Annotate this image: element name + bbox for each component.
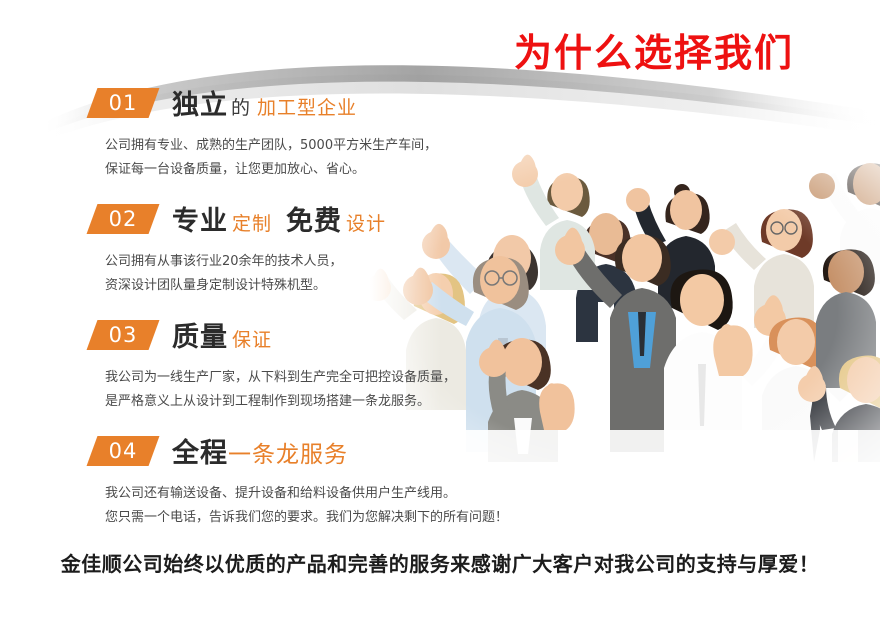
feature-title: 全程一条龙服务 (172, 440, 348, 467)
feature-title-primary: 专业 (172, 206, 228, 237)
feature-description-line: 我公司为一线生产厂家，从下料到生产完全可把控设备质量， (105, 366, 520, 390)
feature-title-primary: 质量 (172, 322, 228, 353)
number-badge-label: 03 (92, 320, 154, 350)
feature-description-line: 我公司还有输送设备、提升设备和给料设备供用户生产线用。 (105, 482, 520, 506)
feature-title-connector: 的 (228, 97, 253, 119)
number-badge-label: 01 (92, 88, 154, 118)
feature-description-line: 是严格意义上从设计到工程制作到现场搭建一条龙服务。 (105, 390, 520, 414)
number-badge-label: 04 (92, 436, 154, 466)
feature-title-accent: 保证 (228, 329, 272, 351)
feature-description-line: 公司拥有从事该行业20余年的技术人员， (105, 250, 520, 274)
feature-heading: 03 质量保证 (0, 320, 520, 354)
feature-title-primary-2: 免费 (286, 206, 342, 237)
feature-title: 质量保证 (172, 324, 272, 351)
feature-description: 我公司还有输送设备、提升设备和给料设备供用户生产线用。 您只需一个电话，告诉我们… (0, 482, 520, 530)
feature-title: 专业定制免费设计 (172, 208, 386, 235)
number-badge-label: 02 (92, 204, 154, 234)
footer-slogan: 金佳顺公司始终以优质的产品和完善的服务来感谢广大客户对我公司的支持与厚爱！ (0, 548, 880, 577)
feature-title-accent: 一条龙服务 (228, 442, 348, 468)
feature-description-line: 公司拥有专业、成熟的生产团队，5000平方米生产车间， (105, 134, 520, 158)
feature-description: 公司拥有从事该行业20余年的技术人员， 资深设计团队量身定制设计特殊机型。 (0, 250, 520, 298)
feature-description-line: 保证每一台设备质量，让您更加放心、省心。 (105, 158, 520, 182)
feature-title-primary: 全程 (172, 438, 228, 469)
feature-description-line: 您只需一个电话，告诉我们您的要求。我们为您解决剩下的所有问题！ (105, 506, 520, 530)
feature-title-accent-2: 设计 (342, 213, 386, 235)
feature-description-line: 资深设计团队量身定制设计特殊机型。 (105, 274, 520, 298)
feature-item-03: 03 质量保证 我公司为一线生产厂家，从下料到生产完全可把控设备质量， 是严格意… (0, 320, 520, 414)
feature-title: 独立的加工型企业 (172, 92, 357, 119)
feature-title-accent: 加工型企业 (253, 97, 357, 119)
promo-poster: 为什么选择我们 (0, 0, 880, 626)
feature-item-02: 02 专业定制免费设计 公司拥有从事该行业20余年的技术人员， 资深设计团队量身… (0, 204, 520, 298)
feature-heading: 01 独立的加工型企业 (0, 88, 520, 122)
feature-description: 公司拥有专业、成熟的生产团队，5000平方米生产车间， 保证每一台设备质量，让您… (0, 134, 520, 182)
page-title: 为什么选择我们 (514, 22, 794, 77)
feature-description: 我公司为一线生产厂家，从下料到生产完全可把控设备质量， 是严格意义上从设计到工程… (0, 366, 520, 414)
feature-list: 01 独立的加工型企业 公司拥有专业、成熟的生产团队，5000平方米生产车间， … (0, 88, 520, 552)
feature-item-04: 04 全程一条龙服务 我公司还有输送设备、提升设备和给料设备供用户生产线用。 您… (0, 436, 520, 530)
feature-heading: 04 全程一条龙服务 (0, 436, 520, 470)
feature-item-01: 01 独立的加工型企业 公司拥有专业、成熟的生产团队，5000平方米生产车间， … (0, 88, 520, 182)
feature-heading: 02 专业定制免费设计 (0, 204, 520, 238)
feature-title-primary: 独立 (172, 90, 228, 121)
feature-title-accent: 定制 (228, 213, 272, 235)
